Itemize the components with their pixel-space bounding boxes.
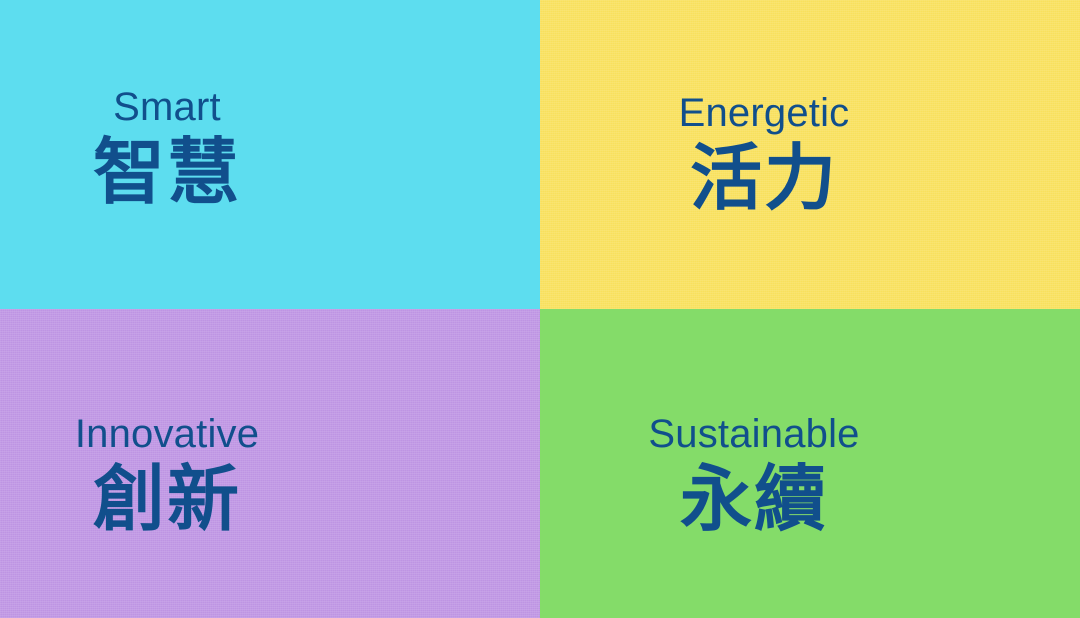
label-block-innovative: Innovative 創新 <box>0 413 540 540</box>
label-block-sustainable: Sustainable 永續 <box>540 413 1080 540</box>
label-chinese-smart: 智慧 <box>0 132 334 213</box>
quadrant-smart: Smart 智慧 <box>0 0 540 309</box>
label-english-smart: Smart <box>0 86 334 128</box>
label-block-smart: Smart 智慧 <box>0 86 540 213</box>
label-chinese-sustainable: 永續 <box>540 459 968 540</box>
label-english-innovative: Innovative <box>0 413 334 455</box>
label-chinese-energetic: 活力 <box>540 138 988 219</box>
quadrant-innovative: Innovative 創新 <box>0 309 540 618</box>
quadrant-energetic: Energetic 活力 <box>540 0 1080 309</box>
quadrant-sustainable: Sustainable 永續 <box>540 309 1080 618</box>
label-chinese-innovative: 創新 <box>0 459 334 540</box>
brand-values-poster: Smart 智慧 Energetic 活力 Innovative 創新 Sust… <box>0 0 1080 618</box>
label-block-energetic: Energetic 活力 <box>540 92 1080 219</box>
label-english-energetic: Energetic <box>540 92 988 134</box>
label-english-sustainable: Sustainable <box>540 413 968 455</box>
